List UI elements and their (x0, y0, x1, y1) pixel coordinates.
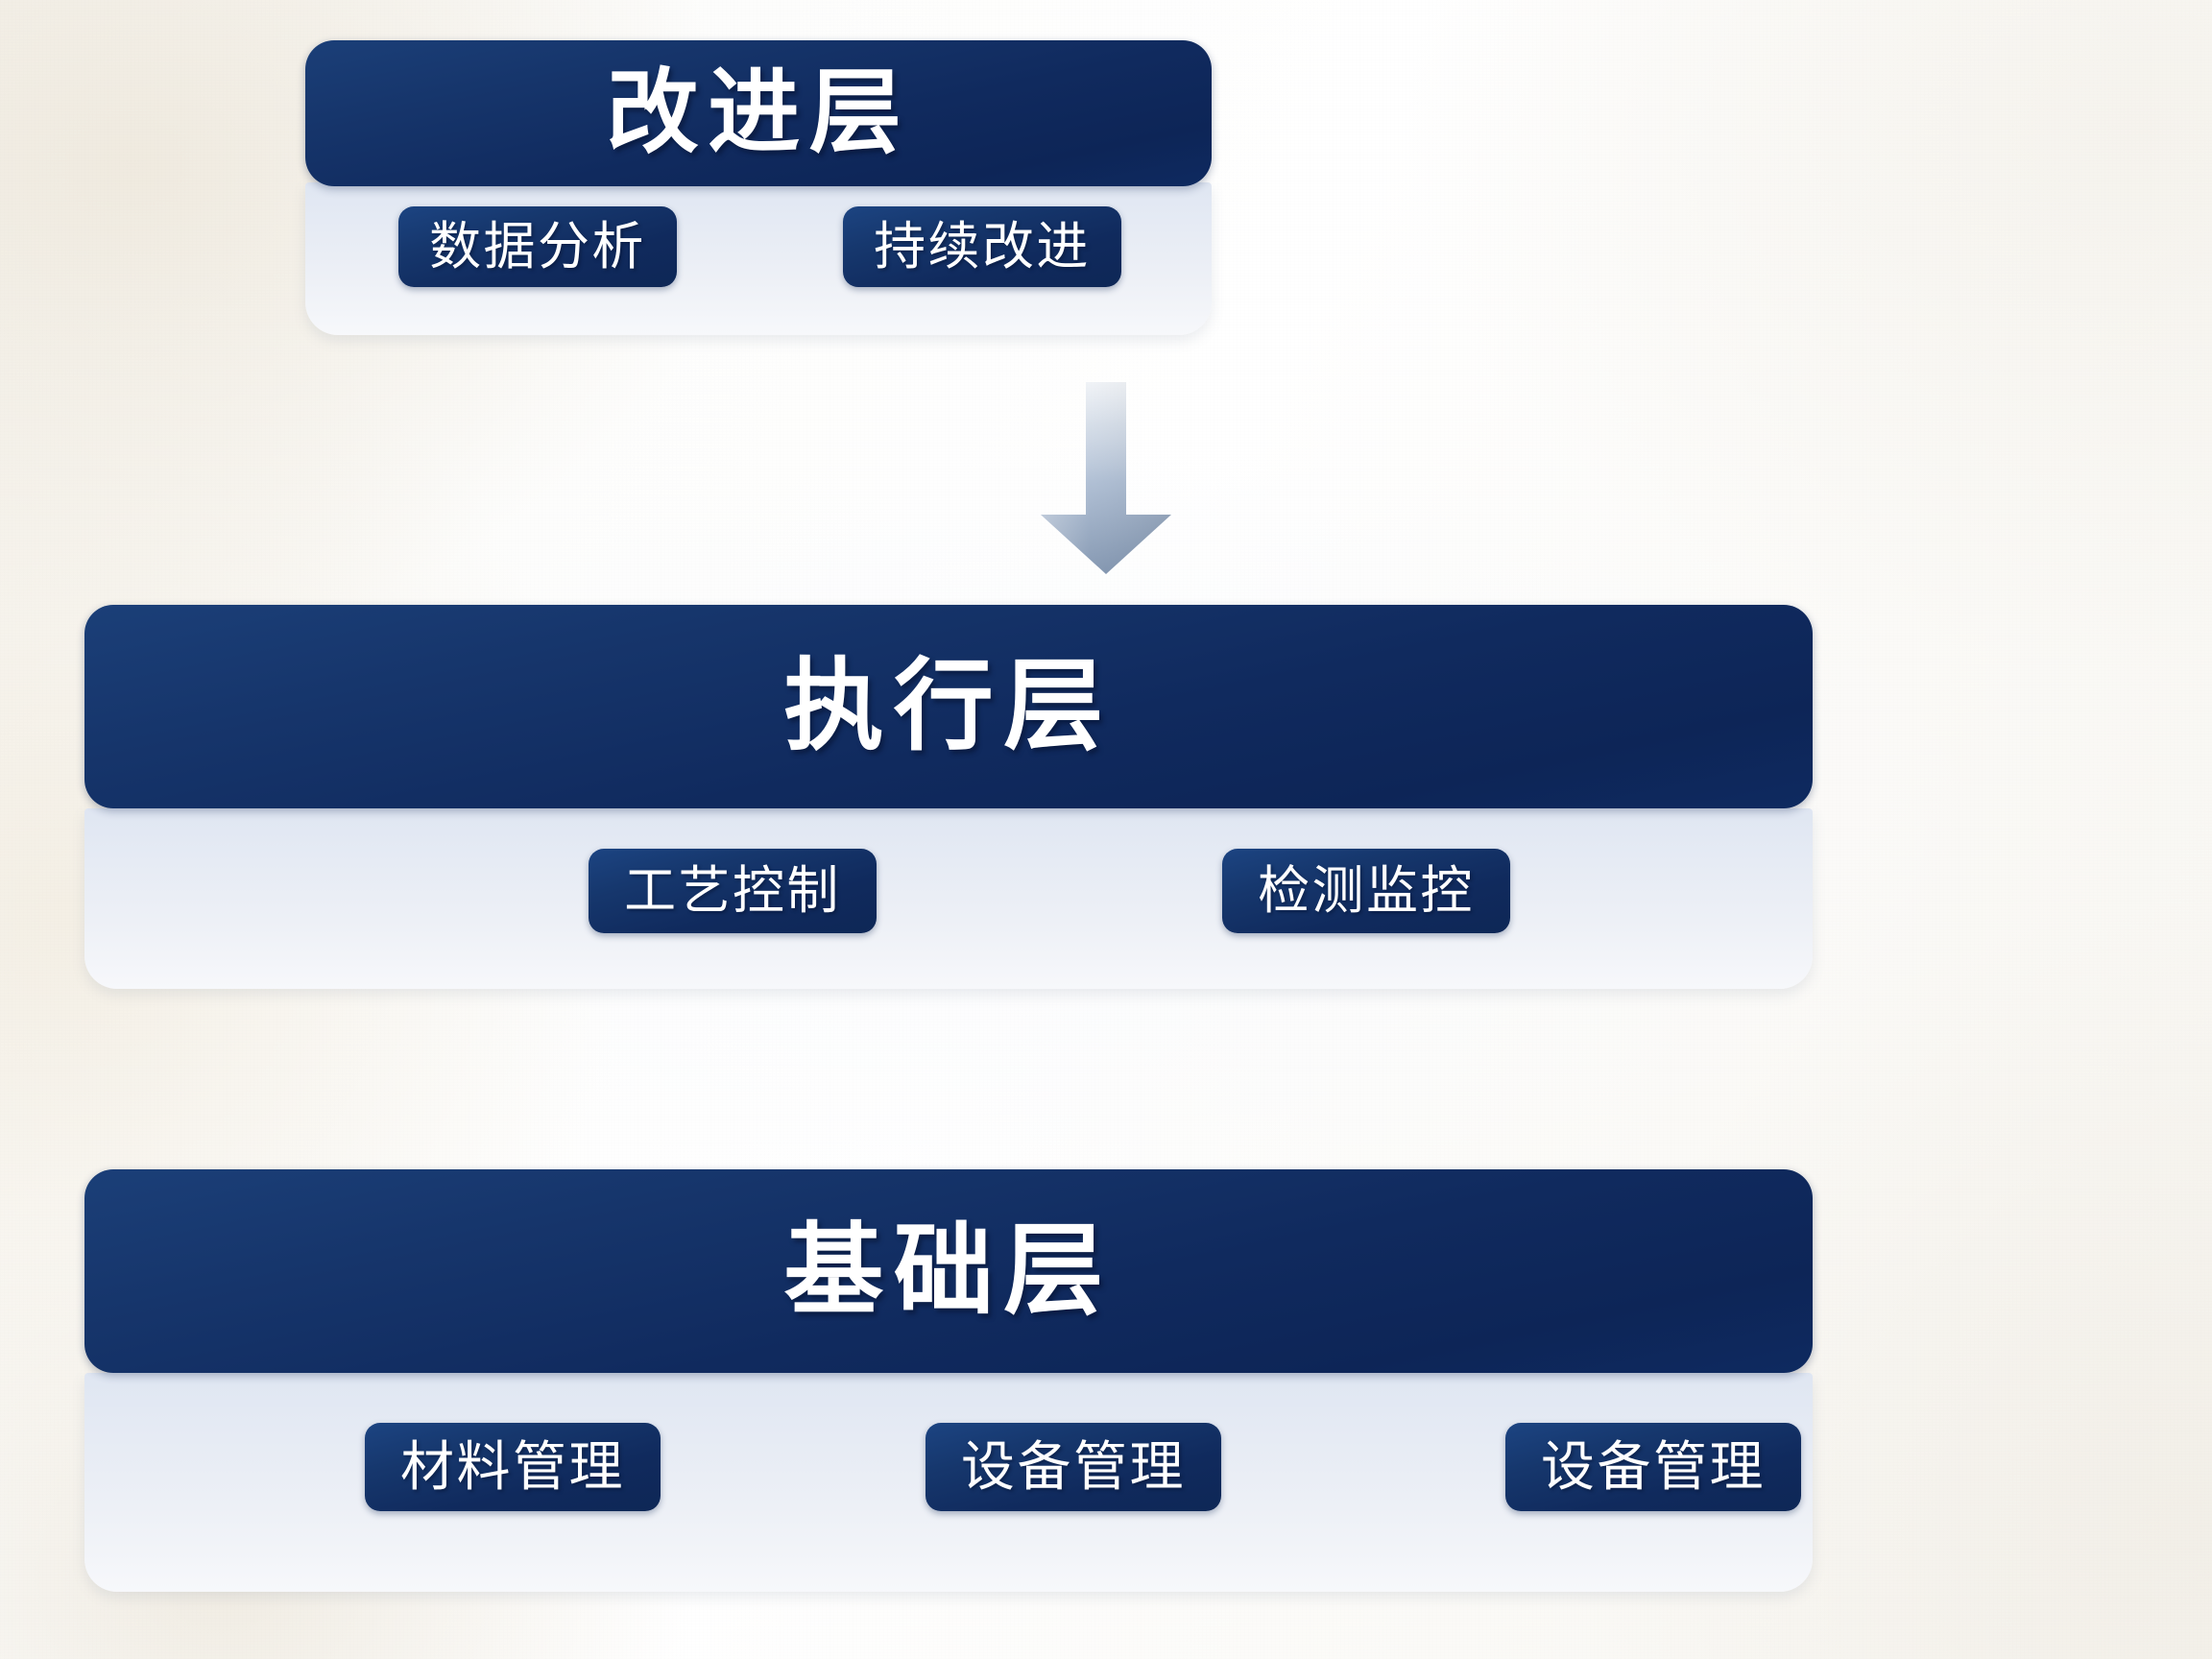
layer-card-improvement: 数据分析 持续改进 改进层 (305, 40, 1212, 295)
tag-pill-inspection-monitoring[interactable]: 检测监控 (1222, 849, 1510, 933)
tag-row-execution: 工艺控制 检测监控 (84, 808, 1813, 989)
tag-label: 材料管理 (400, 1440, 625, 1494)
tag-label: 持续改进 (874, 221, 1091, 273)
layer-header-foundation[interactable]: 基础层 (84, 1169, 1813, 1373)
tag-pill-equipment-management-1[interactable]: 设备管理 (926, 1423, 1221, 1511)
layer-body-execution: 工艺控制 检测监控 (84, 808, 1813, 989)
tag-label: 设备管理 (961, 1440, 1186, 1494)
layer-card-execution: 工艺控制 检测监控 执行层 (84, 605, 1813, 989)
down-arrow-icon (1041, 382, 1171, 574)
tag-pill-process-control[interactable]: 工艺控制 (589, 849, 877, 933)
tag-label: 工艺控制 (624, 865, 841, 917)
tag-pill-equipment-management-2[interactable]: 设备管理 (1505, 1423, 1801, 1511)
tag-label: 数据分析 (429, 221, 646, 273)
connector-arrow-1 (1041, 382, 1171, 574)
layer-title: 基础层 (783, 1221, 1113, 1321)
layered-architecture-diagram: 数据分析 持续改进 改进层 工艺控制 检测监控 执行层 (0, 0, 2212, 1659)
tag-label: 检测监控 (1258, 865, 1475, 917)
layer-body-improvement: 数据分析 持续改进 (305, 182, 1212, 335)
tag-pill-continuous-improvement[interactable]: 持续改进 (843, 206, 1121, 287)
layer-header-improvement[interactable]: 改进层 (305, 40, 1212, 186)
layer-title: 改进层 (607, 67, 911, 159)
tag-row-improvement: 数据分析 持续改进 (305, 182, 1212, 335)
layer-header-execution[interactable]: 执行层 (84, 605, 1813, 808)
tag-row-foundation: 材料管理 设备管理 设备管理 (84, 1373, 1813, 1592)
tag-pill-data-analysis[interactable]: 数据分析 (398, 206, 677, 287)
tag-label: 设备管理 (1541, 1440, 1766, 1494)
layer-card-foundation: 材料管理 设备管理 设备管理 基础层 (84, 1169, 1813, 1592)
tag-pill-material-management[interactable]: 材料管理 (365, 1423, 661, 1511)
layer-title: 执行层 (783, 657, 1113, 757)
layer-body-foundation: 材料管理 设备管理 设备管理 (84, 1373, 1813, 1592)
